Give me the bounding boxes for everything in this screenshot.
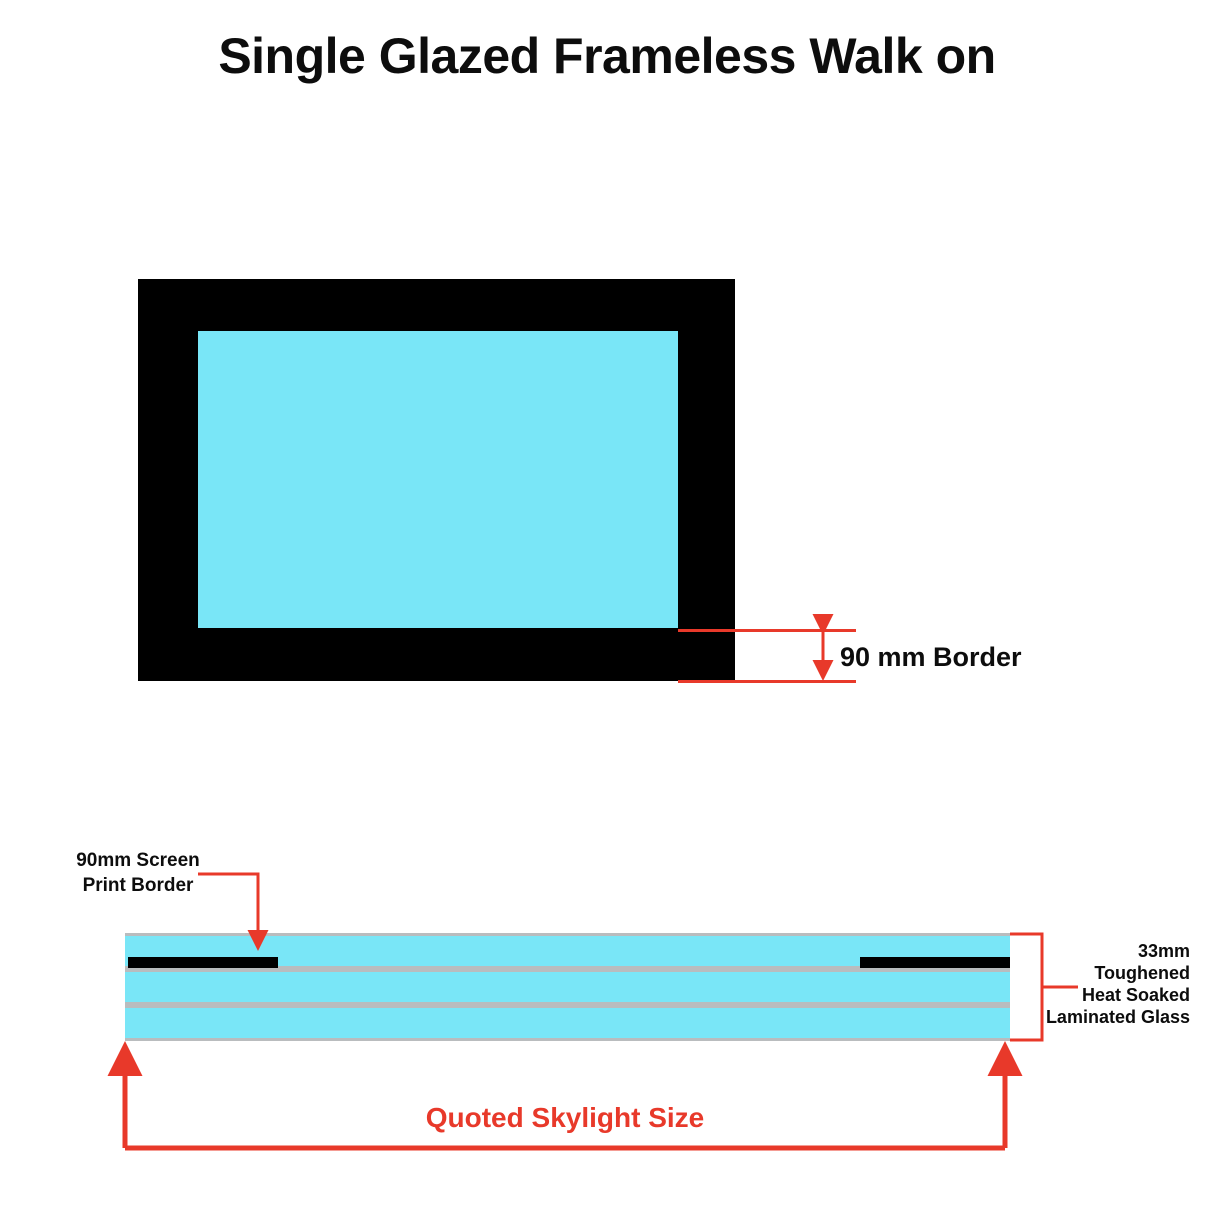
screen-print-border-label-line1: 90mm Screen (28, 848, 248, 873)
skylight-plan-inner-glass (198, 331, 678, 628)
glass-thickness-label-line4: Laminated Glass (1000, 1006, 1190, 1028)
glass-thickness-label-line3: Heat Soaked (1000, 984, 1190, 1006)
border-dimension-label: 90 mm Border (840, 640, 1022, 674)
screen-print-border-label: 90mm Screen Print Border (28, 848, 248, 898)
quoted-skylight-size-label: Quoted Skylight Size (125, 1101, 1005, 1135)
glass-thickness-label-line2: Toughened (1000, 962, 1190, 984)
glass-thickness-label-line1: 33mm (1000, 940, 1190, 962)
glass-layer-middle (125, 969, 1010, 1005)
screen-print-bar-right (860, 957, 1010, 968)
screen-print-border-label-line2: Print Border (28, 873, 248, 898)
glass-thickness-label: 33mm Toughened Heat Soaked Laminated Gla… (1000, 940, 1190, 1028)
border-extension-line-bottom (678, 680, 856, 683)
border-extension-line-top (678, 629, 856, 632)
page-title: Single Glazed Frameless Walk on (0, 28, 1214, 84)
screen-print-bar-left (128, 957, 278, 968)
diagram-canvas: Single Glazed Frameless Walk on 90 mm Bo… (0, 0, 1214, 1214)
glass-layer-bottom (125, 1005, 1010, 1041)
